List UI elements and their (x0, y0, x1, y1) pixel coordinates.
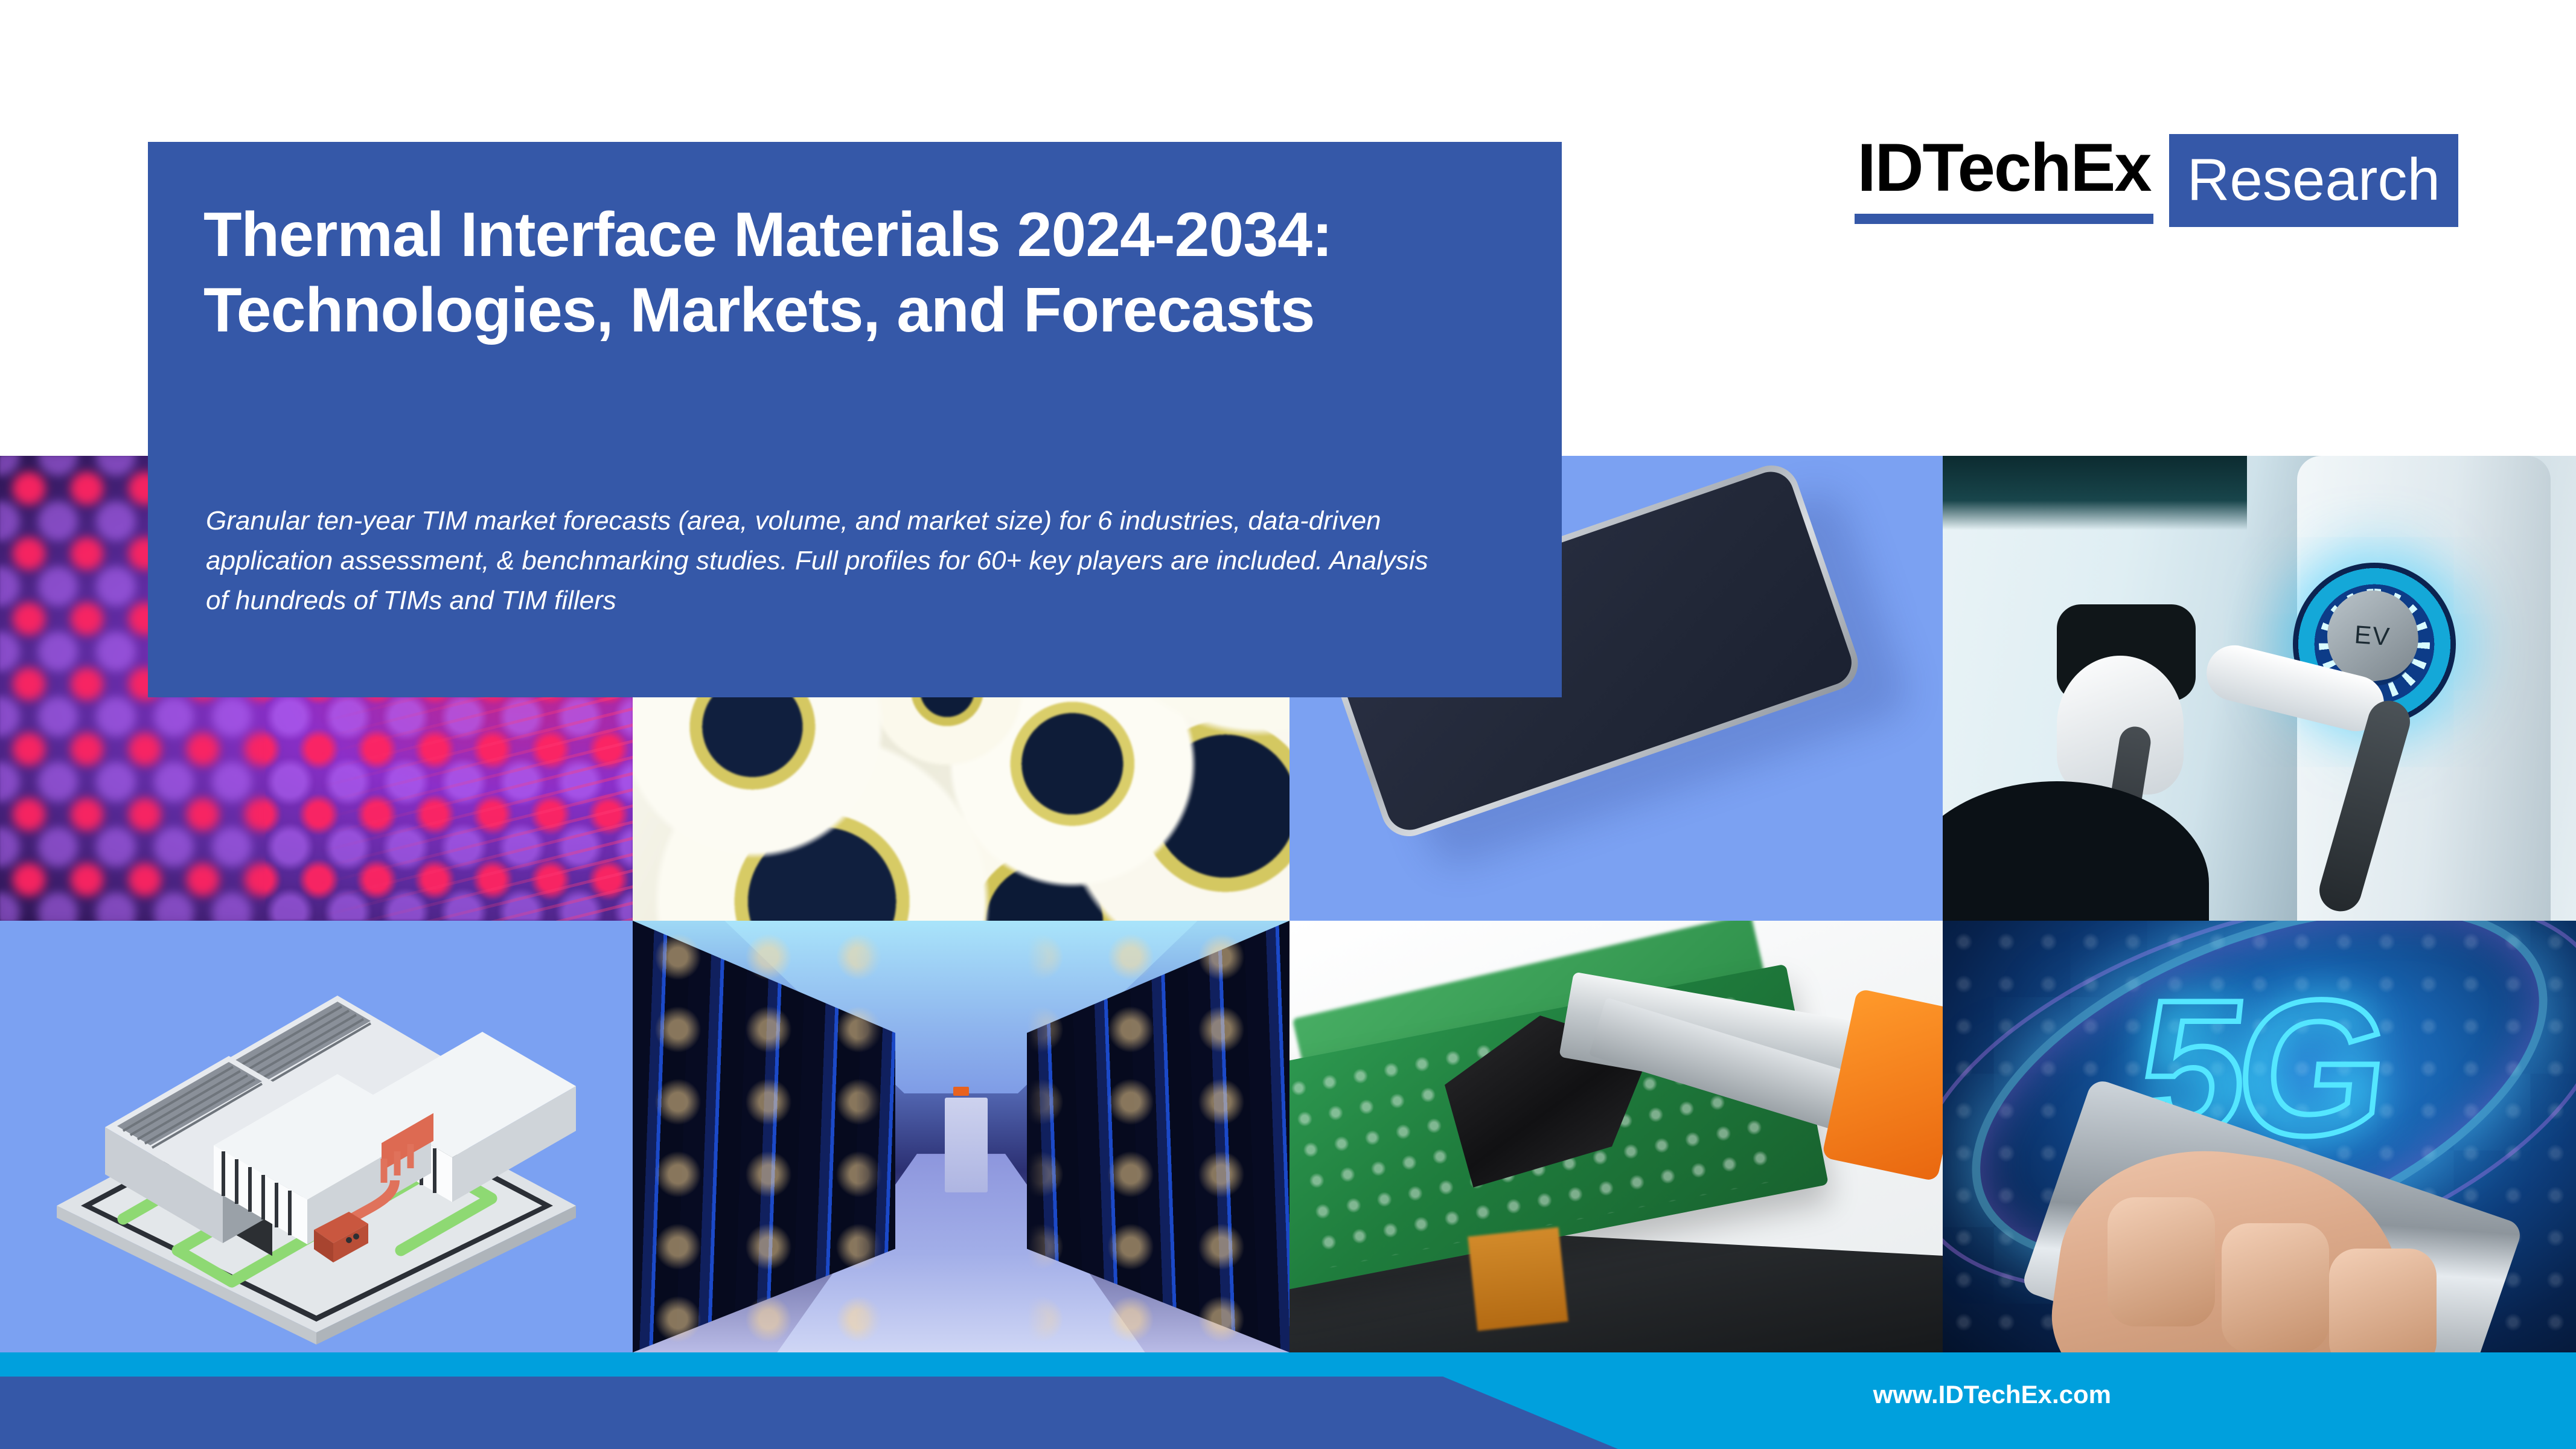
ev-port-label: EV (2353, 620, 2391, 651)
data-center-door (945, 1098, 988, 1192)
finger-2 (2222, 1223, 2329, 1353)
idtechex-logo[interactable]: IDTechEx Research (1855, 134, 2458, 227)
finger-3 (2329, 1249, 2437, 1352)
data-center-scene (633, 921, 1290, 1352)
ev-wheel-arch (1943, 781, 2209, 921)
footer-blue-wedge (0, 1377, 1618, 1449)
image-5g-hologram: 5G (1943, 921, 2576, 1352)
ev-windshield (1943, 456, 2247, 530)
page-subtitle: Granular ten-year TIM market forecasts (… (206, 501, 1435, 621)
image-data-center-aisle (633, 921, 1290, 1352)
footer-website-url[interactable]: www.IDTechEx.com (1873, 1380, 2111, 1409)
title-card: Thermal Interface Materials 2024-2034: T… (148, 142, 1562, 697)
ev-scene: EV (1943, 456, 2576, 921)
report-cover-slide: EV (0, 0, 2576, 1449)
page-title: Thermal Interface Materials 2024-2034: T… (203, 197, 1489, 348)
battery-cooling-diagram (33, 946, 600, 1345)
ribbon-cable (1468, 1227, 1568, 1331)
logo-wordmark-group: IDTechEx (1855, 134, 2153, 224)
logo-underline-rule (1855, 214, 2153, 224)
5g-scene: 5G (1943, 921, 2576, 1352)
logo-wordmark: IDTechEx (1855, 134, 2153, 202)
finger-1 (2108, 1197, 2215, 1327)
image-battery-cooling-plate (0, 921, 633, 1352)
image-ev-charging: EV (1943, 456, 2576, 921)
logo-product-badge: Research (2169, 134, 2458, 227)
footer-bar: www.IDTechEx.com (0, 1352, 2576, 1449)
image-pcb-thermal-pad (1290, 921, 1943, 1352)
exit-sign (953, 1087, 969, 1095)
